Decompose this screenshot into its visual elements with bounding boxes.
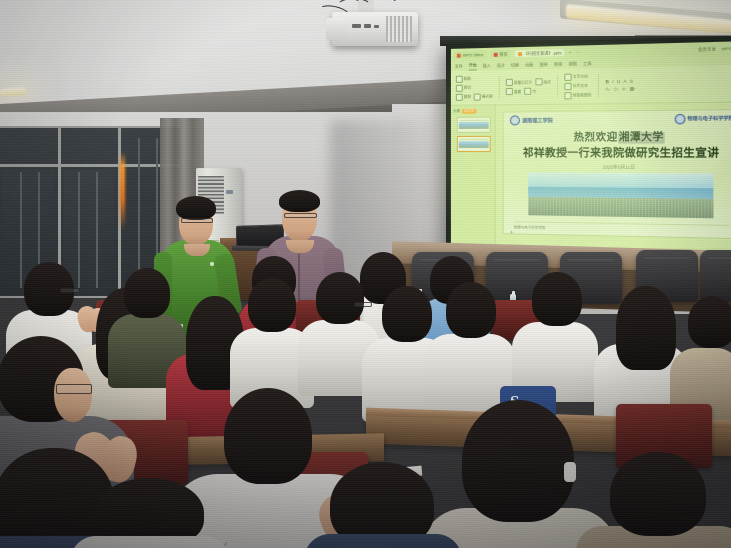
font-color-button[interactable]: A- [605, 86, 610, 91]
ribbon-group-clipboard[interactable]: 粘贴 剪切 复制 格式刷 [456, 75, 493, 101]
tab-label: WPS Office [463, 52, 484, 58]
glasses-icon [56, 384, 92, 394]
ribbon-tab-animation[interactable]: 动画 [525, 62, 533, 68]
ribbon-tab-design[interactable]: 设计 [497, 62, 505, 68]
ribbon-group-slides[interactable]: 新建幻灯片 版式 重置 节 [506, 78, 551, 95]
glasses-icon [354, 302, 372, 307]
glasses-icon [60, 288, 80, 293]
wps-logo-icon [457, 53, 461, 57]
smartart-button[interactable]: 转智能图形 [564, 91, 591, 99]
pptx-file-icon [518, 52, 522, 56]
university-seal-icon [510, 115, 520, 125]
new-slide-icon [506, 79, 513, 86]
slide-thumbnail-2[interactable]: 2 [457, 136, 491, 152]
university-logo-left: 湖南理工学院 [510, 115, 553, 126]
tab-wps-office[interactable]: WPS Office [454, 51, 486, 59]
slide-photo [528, 172, 713, 218]
shape-fill-button[interactable]: ◇- [613, 86, 618, 92]
wps-ai-button[interactable]: WPS AI [722, 46, 731, 52]
table-button[interactable]: ▦- [630, 85, 636, 91]
home-icon [493, 52, 497, 56]
title-prefix: 热烈欢迎 [574, 132, 618, 144]
thumbnail-preview [459, 141, 489, 148]
section-icon [524, 88, 531, 95]
photo-cityscape [528, 197, 713, 218]
new-tab-button[interactable]: + [569, 50, 571, 55]
cut-button[interactable]: 剪切 [456, 84, 471, 91]
glasses-icon [284, 213, 317, 218]
college-seal-icon [674, 114, 685, 125]
tab-overflow-button[interactable]: ··· [575, 50, 579, 55]
format-painter-button[interactable]: 格式刷 [474, 93, 493, 100]
projector-vent [386, 16, 412, 42]
copy-icon [456, 93, 463, 100]
photo-sky [528, 172, 713, 188]
slide-canvas[interactable]: 湖南理工学院 物理与电子科学学院 热烈欢迎湘潭大学 祁祥教授一行来我院做研究生招… [496, 102, 731, 256]
paste-icon [456, 75, 463, 82]
slide-thumbnail-panel[interactable]: 大纲 幻灯片 1 2 [451, 105, 496, 250]
speaker-hair [279, 190, 320, 212]
section-button[interactable]: 节 [524, 88, 536, 95]
reset-button[interactable]: 重置 [506, 88, 521, 95]
air-conditioner-display [226, 190, 233, 194]
thumbnail-preview [459, 122, 489, 129]
ribbon-tab-file[interactable]: 文件 [455, 63, 463, 69]
ribbon-toolbar[interactable]: 粘贴 剪切 复制 格式刷 新建幻灯片 [451, 65, 731, 106]
university-name: 湖南理工学院 [522, 117, 553, 124]
reset-icon [506, 88, 513, 95]
strikethrough-button[interactable]: S [630, 78, 633, 83]
paste-button[interactable]: 粘贴 [456, 75, 471, 82]
slide-title-line2: 祁祥教授一行来我院做研究生招生宣讲 [504, 145, 731, 161]
college-logo-right: 物理与电子科学学院 [674, 113, 731, 124]
lecture-hall-photo: WPS Office 首页 《行招生宣讲》.pptx + ··· 会员专享 WP [0, 0, 731, 548]
ribbon-divider [499, 76, 500, 98]
tab-home[interactable]: 首页 [490, 50, 510, 58]
ribbon-tab-insert[interactable]: 插入 [483, 62, 491, 68]
add-slide-button[interactable]: + [510, 230, 514, 236]
ribbon-tab-transition[interactable]: 切换 [511, 62, 519, 68]
ribbon-tab-view[interactable]: 视图 [568, 61, 576, 67]
head-hair [224, 388, 312, 484]
exterior-light-glow [120, 152, 125, 230]
ribbon-group-font[interactable]: B I U A S A- ◇- ≡- ▦- [605, 78, 635, 92]
slide-thumbnail-1[interactable]: 1 [457, 117, 491, 133]
slides-tab[interactable]: 幻灯片 [462, 109, 477, 114]
polo-logo-icon [210, 262, 214, 266]
executive-chair [700, 250, 731, 302]
slide-title-line1: 热烈欢迎湘潭大学 [504, 127, 731, 144]
format-painter-icon [474, 93, 481, 100]
slide-footer: 物理与电子科学学院 [514, 221, 729, 233]
italic-button[interactable]: I [612, 79, 613, 84]
ribbon-tab-start[interactable]: 开始 [469, 62, 477, 70]
ribbon-tab-review[interactable]: 审阅 [554, 61, 562, 67]
screen-surface: WPS Office 首页 《行招生宣讲》.pptx + ··· 会员专享 WP [451, 41, 731, 262]
account-label[interactable]: 会员专享 [698, 46, 716, 53]
font-effects-button[interactable]: A [623, 78, 626, 83]
projection-screen: WPS Office 首页 《行招生宣讲》.pptx + ··· 会员专享 WP [446, 35, 731, 267]
thumbnail-panel-header[interactable]: 大纲 幻灯片 [453, 108, 493, 113]
slide-title-block: 热烈欢迎湘潭大学 祁祥教授一行来我院做研究生招生宣讲 2025年6月11日 [504, 127, 731, 171]
current-slide[interactable]: 湖南理工学院 物理与电子科学学院 热烈欢迎湘潭大学 祁祥教授一行来我院做研究生招… [503, 109, 731, 239]
ribbon-divider [557, 75, 558, 98]
outline-tab[interactable]: 大纲 [453, 109, 460, 114]
wps-office-window[interactable]: WPS Office 首页 《行招生宣讲》.pptx + ··· 会员专享 WP [451, 41, 731, 262]
ribbon-tab-tools[interactable]: 工具 [583, 60, 591, 66]
text-direction-icon [564, 73, 571, 80]
earbud-icon [564, 462, 576, 482]
underline-button[interactable]: U [617, 78, 620, 83]
tab-label: 首页 [499, 51, 507, 56]
tab-label: 《行招生宣讲》.pptx [524, 50, 562, 56]
title-highlight: 湘潭大学 [618, 132, 665, 144]
copy-button[interactable]: 复制 [456, 93, 471, 100]
cut-icon [456, 84, 463, 91]
ribbon-divider [598, 74, 599, 97]
college-name: 物理与电子科学学院 [687, 116, 731, 123]
ribbon-tab-slideshow[interactable]: 放映 [539, 61, 547, 67]
bold-button[interactable]: B [605, 79, 608, 84]
projector-lens [326, 18, 348, 40]
align-text-icon [564, 82, 571, 89]
slide-date: 2025年6月11日 [504, 164, 731, 171]
layout-icon [535, 78, 542, 85]
ribbon-group-text[interactable]: 文字方向 对齐文本 转智能图形 [564, 73, 591, 99]
new-slide-button[interactable]: 新建幻灯片 [506, 78, 532, 86]
align-button[interactable]: ≡- [622, 86, 626, 91]
wps-body: 大纲 幻灯片 1 2 [451, 102, 731, 256]
long-hair [0, 448, 114, 548]
glasses-icon [181, 218, 213, 223]
layout-button[interactable]: 版式 [535, 78, 551, 85]
smartart-icon [564, 92, 571, 99]
tab-presentation-file[interactable]: 《行招生宣讲》.pptx [515, 49, 565, 57]
long-hair [616, 286, 676, 370]
slide-header: 湖南理工学院 物理与电子科学学院 [504, 110, 731, 126]
speaker-hair [176, 196, 216, 220]
align-text-button[interactable]: 对齐文本 [564, 82, 587, 90]
text-direction-button[interactable]: 文字方向 [564, 73, 587, 81]
